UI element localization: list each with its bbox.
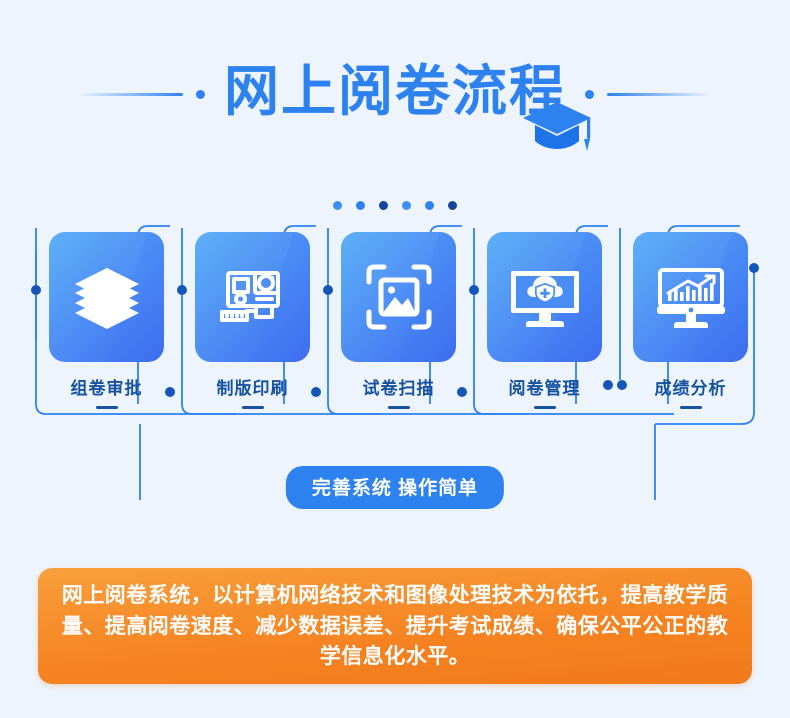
title-dot-3 — [379, 201, 388, 210]
page-title: 网上阅卷流程 — [218, 64, 572, 119]
monitor-shield-icon — [505, 259, 585, 335]
title-dot-6 — [448, 201, 457, 210]
step-5-label: 成绩分析 — [633, 374, 748, 399]
scan-image-icon — [361, 259, 437, 335]
title-dot-4 — [402, 201, 411, 210]
title-dot-5 — [425, 201, 434, 210]
graduation-cap-icon — [521, 99, 593, 157]
step-2-label: 制版印刷 — [195, 374, 310, 399]
step-3-label: 试卷扫描 — [341, 374, 456, 399]
step-4-tile[interactable] — [487, 232, 602, 362]
printing-press-icon — [214, 258, 292, 336]
layers-stack-icon — [69, 259, 145, 335]
step-3-label-dash — [388, 406, 410, 409]
title-decoration-dot-left — [196, 90, 205, 99]
title-dots-row — [0, 201, 790, 210]
step-4-label-dash — [534, 406, 556, 409]
title-decoration-line-right — [607, 93, 707, 96]
title-decoration-line-left — [83, 93, 183, 96]
step-3-tile[interactable] — [341, 232, 456, 362]
step-card-4[interactable]: 阅卷管理 — [487, 232, 602, 409]
step-4-label: 阅卷管理 — [487, 374, 602, 399]
step-card-2[interactable]: 制版印刷 — [195, 232, 310, 409]
step-card-1[interactable]: 组卷审批 — [49, 232, 164, 409]
step-1-label-dash — [96, 406, 118, 409]
title-dot-2 — [356, 201, 365, 210]
feature-badge[interactable]: 完善系统 操作简单 — [286, 466, 504, 509]
step-2-tile[interactable] — [195, 232, 310, 362]
step-card-3[interactable]: 试卷扫描 — [341, 232, 456, 409]
monitor-chart-icon — [651, 259, 731, 335]
step-card-5[interactable]: 成绩分析 — [633, 232, 748, 409]
title-decoration-dot-right — [585, 90, 594, 99]
title-dot-1 — [333, 201, 342, 210]
header-section: 网上阅卷流程 — [0, 55, 790, 165]
description-text: 网上阅卷系统，以计算机网络技术和图像处理技术为依托，提高教学质量、提高阅卷速度、… — [59, 580, 731, 671]
step-2-label-dash — [242, 406, 264, 409]
title-row: 网上阅卷流程 — [0, 55, 790, 133]
description-panel: 网上阅卷系统，以计算机网络技术和图像处理技术为依托，提高教学质量、提高阅卷速度、… — [38, 568, 752, 684]
infographic-root: 网上阅卷流程 — [0, 0, 790, 718]
step-1-tile[interactable] — [49, 232, 164, 362]
step-1-label: 组卷审批 — [49, 374, 164, 399]
steps-row: 组卷审批 — [0, 232, 790, 432]
step-5-label-dash — [680, 406, 702, 409]
step-5-tile[interactable] — [633, 232, 748, 362]
